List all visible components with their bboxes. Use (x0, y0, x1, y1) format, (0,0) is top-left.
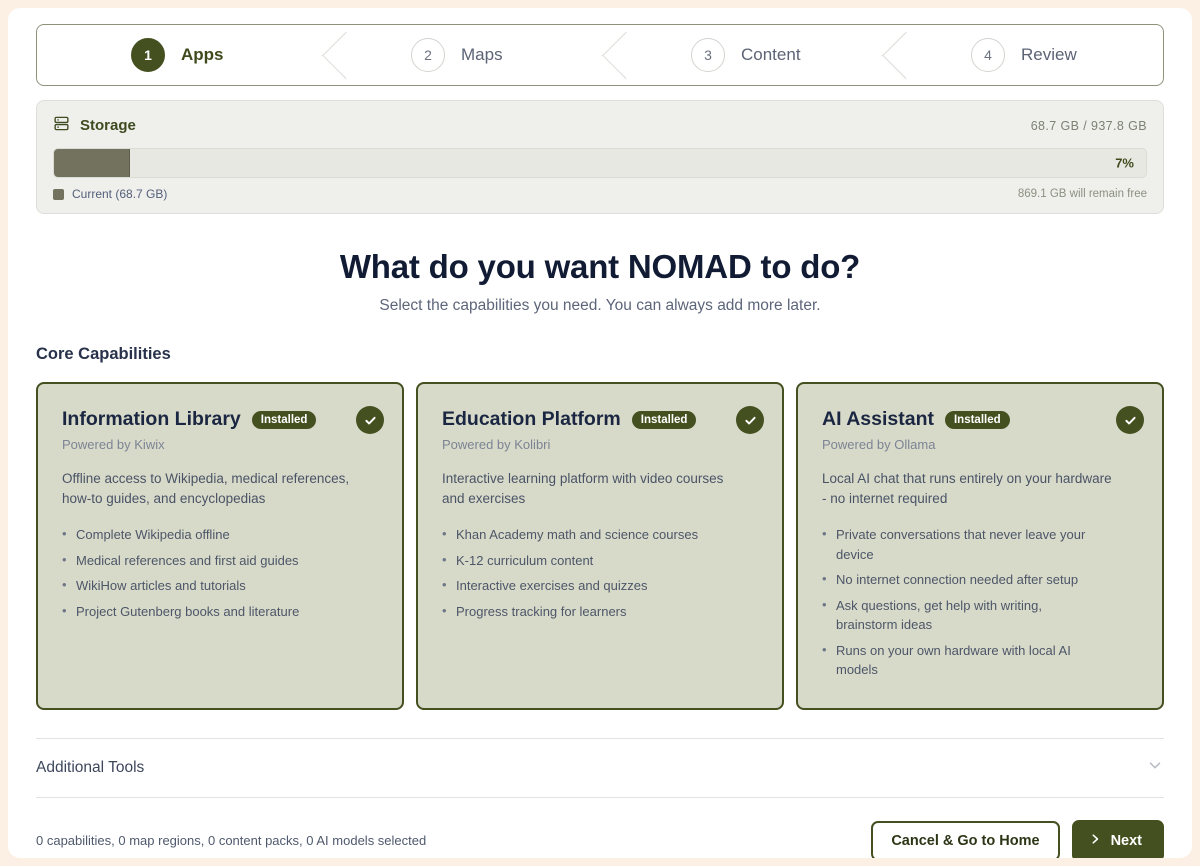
step-number-3: 3 (691, 38, 725, 72)
app-window: 1 Apps 2 Maps 3 Content 4 Review (8, 8, 1192, 858)
card-title: Education Platform (442, 408, 621, 431)
storage-panel: Storage 68.7 GB / 937.8 GB 7% Current (6… (36, 100, 1164, 214)
storage-label: Storage (80, 117, 136, 134)
check-icon[interactable] (356, 406, 384, 434)
footer-actions: Cancel & Go to Home Next (871, 820, 1164, 858)
page-subtitle: Select the capabilities you need. You ca… (36, 297, 1164, 315)
list-item: Medical references and first aid guides (62, 551, 342, 571)
card-title: AI Assistant (822, 408, 934, 431)
card-header: Information Library Installed (62, 408, 380, 431)
hero-section: What do you want NOMAD to do? Select the… (36, 248, 1164, 315)
storage-footer: Current (68.7 GB) 869.1 GB will remain f… (53, 187, 1147, 201)
list-item: Project Gutenberg books and literature (62, 602, 342, 622)
chevron-right-icon (1088, 832, 1102, 850)
list-item: WikiHow articles and tutorials (62, 576, 342, 596)
step-label-maps: Maps (461, 45, 503, 65)
storage-remaining-label: 869.1 GB will remain free (1018, 188, 1147, 200)
next-button-label: Next (1111, 833, 1142, 849)
list-item: Khan Academy math and science courses (442, 525, 722, 545)
step-content[interactable]: 3 Content (603, 25, 883, 85)
card-description: Offline access to Wikipedia, medical ref… (62, 469, 352, 508)
chevron-down-icon[interactable] (1146, 756, 1164, 779)
card-powered-by: Powered by Kiwix (62, 437, 380, 452)
status-badge: Installed (945, 411, 1010, 429)
list-item: Complete Wikipedia offline (62, 525, 342, 545)
section-title-core-capabilities: Core Capabilities (36, 345, 1164, 364)
step-number-1: 1 (131, 38, 165, 72)
card-title: Information Library (62, 408, 241, 431)
card-feature-list: Complete Wikipedia offline Medical refer… (62, 525, 380, 621)
list-item: Interactive exercises and quizzes (442, 576, 722, 596)
list-item: Runs on your own hardware with local AI … (822, 641, 1102, 680)
capability-card-education-platform[interactable]: Education Platform Installed Powered by … (416, 382, 784, 710)
step-number-2: 2 (411, 38, 445, 72)
step-label-review: Review (1021, 45, 1077, 65)
list-item: K-12 curriculum content (442, 551, 722, 571)
status-badge: Installed (252, 411, 317, 429)
capability-card-ai-assistant[interactable]: AI Assistant Installed Powered by Ollama… (796, 382, 1164, 710)
storage-progress-fill (54, 149, 130, 177)
storage-percent-label: 7% (1115, 156, 1134, 171)
page-title: What do you want NOMAD to do? (36, 248, 1164, 286)
wizard-stepper: 1 Apps 2 Maps 3 Content 4 Review (36, 24, 1164, 86)
storage-header: Storage 68.7 GB / 937.8 GB (53, 115, 1147, 136)
card-powered-by: Powered by Kolibri (442, 437, 760, 452)
step-apps[interactable]: 1 Apps (37, 25, 323, 85)
card-powered-by: Powered by Ollama (822, 437, 1140, 452)
next-button[interactable]: Next (1072, 820, 1164, 858)
card-feature-list: Khan Academy math and science courses K-… (442, 525, 760, 621)
storage-capacity-text: 68.7 GB / 937.8 GB (1031, 119, 1147, 133)
storage-legend: Current (68.7 GB) (53, 187, 167, 201)
list-item: Private conversations that never leave y… (822, 525, 1102, 564)
storage-icon (53, 115, 70, 136)
storage-title-group: Storage (53, 115, 136, 136)
status-badge: Installed (632, 411, 697, 429)
check-icon[interactable] (1116, 406, 1144, 434)
selection-summary: 0 capabilities, 0 map regions, 0 content… (36, 833, 426, 848)
storage-progress-bar: 7% (53, 148, 1147, 178)
additional-tools-label: Additional Tools (36, 759, 144, 777)
legend-swatch-current (53, 189, 64, 200)
card-header: AI Assistant Installed (822, 408, 1140, 431)
legend-label-current: Current (68.7 GB) (72, 187, 167, 201)
additional-tools-accordion[interactable]: Additional Tools (36, 739, 1164, 797)
list-item: Progress tracking for learners (442, 602, 722, 622)
step-number-4: 4 (971, 38, 1005, 72)
check-icon[interactable] (736, 406, 764, 434)
capability-card-information-library[interactable]: Information Library Installed Powered by… (36, 382, 404, 710)
list-item: Ask questions, get help with writing, br… (822, 596, 1102, 635)
capability-card-list: Information Library Installed Powered by… (36, 382, 1164, 710)
card-description: Interactive learning platform with video… (442, 469, 732, 508)
list-item: No internet connection needed after setu… (822, 570, 1102, 590)
wizard-footer: 0 capabilities, 0 map regions, 0 content… (36, 797, 1164, 858)
step-label-content: Content (741, 45, 801, 65)
step-maps[interactable]: 2 Maps (323, 25, 603, 85)
card-header: Education Platform Installed (442, 408, 760, 431)
card-description: Local AI chat that runs entirely on your… (822, 469, 1112, 508)
page-content: 1 Apps 2 Maps 3 Content 4 Review (8, 8, 1192, 858)
cancel-button[interactable]: Cancel & Go to Home (871, 821, 1059, 858)
step-review[interactable]: 4 Review (883, 25, 1163, 85)
card-feature-list: Private conversations that never leave y… (822, 525, 1140, 680)
step-label-apps: Apps (181, 45, 224, 65)
